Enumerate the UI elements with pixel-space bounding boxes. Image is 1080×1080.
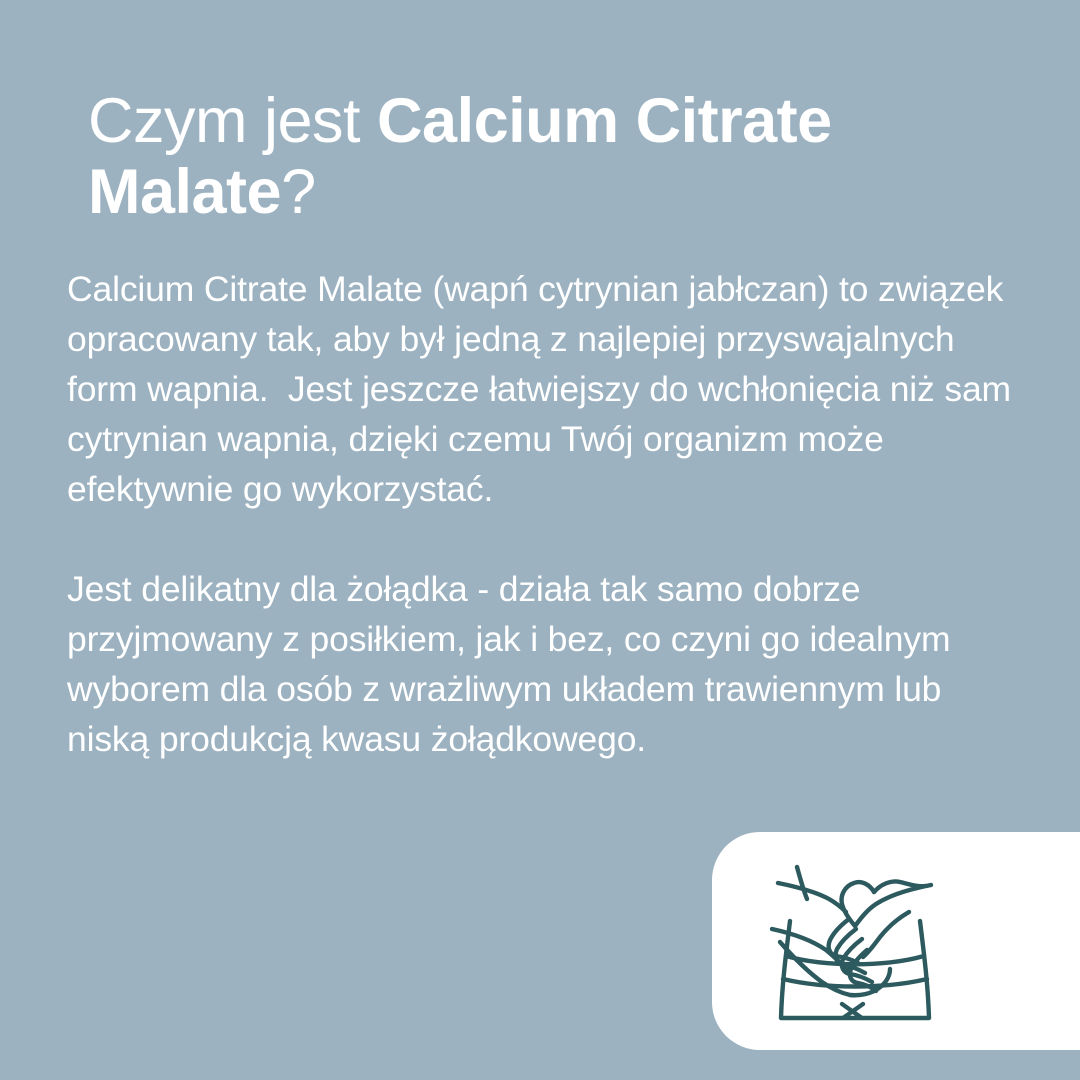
title-light-suffix: ? (281, 157, 316, 227)
body-copy: Calcium Citrate Malate (wapń cytrynian j… (67, 264, 1019, 764)
icon-card (712, 832, 1080, 1050)
hands-on-stomach-icon (750, 836, 960, 1046)
paragraph-1: Calcium Citrate Malate (wapń cytrynian j… (67, 264, 1019, 514)
page-title: Czym jest Calcium Citrate Malate? (88, 86, 996, 227)
paragraph-2: Jest delikatny dla żołądka - działa tak … (67, 564, 1019, 764)
title-light-prefix: Czym jest (88, 86, 377, 156)
infographic-slide: Czym jest Calcium Citrate Malate? Calciu… (0, 0, 1080, 1080)
